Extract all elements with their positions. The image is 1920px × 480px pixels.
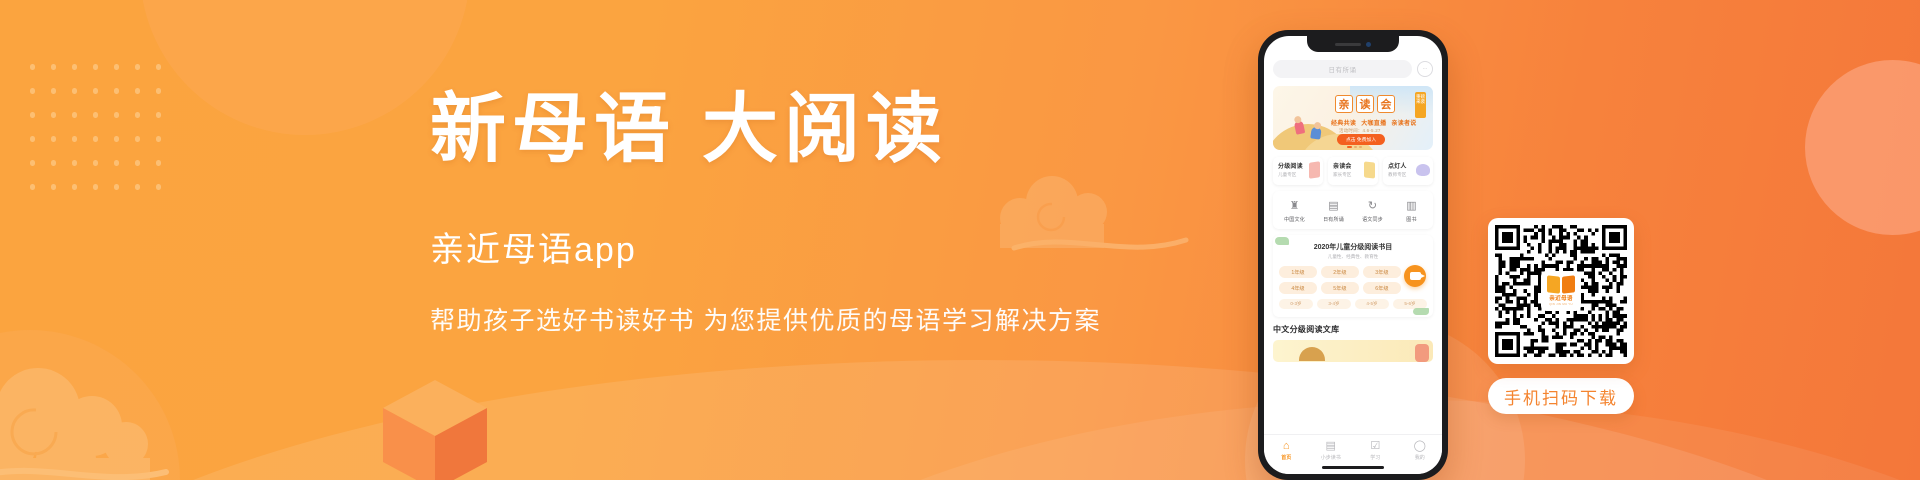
quick-link-syllabus-sync[interactable]: ↻ 语文同步 [1353,198,1392,223]
lamp-icon [1416,164,1430,176]
home-indicator [1322,466,1384,469]
card-graded-reading[interactable]: 分级阅读 儿童专区 [1273,157,1323,185]
culture-icon: ♜ [1287,198,1302,213]
decor-cube [375,370,495,480]
qr-block: 亲近母语 QIN JIN MU YU 手机扫码下载 [1488,218,1634,414]
app-name: 亲近母语app [430,222,1190,271]
illustration-child-1 [1294,120,1306,135]
tab-profile[interactable]: ◯ 我的 [1398,440,1443,461]
quick-link-label: 日有所诵 [1314,216,1353,223]
booklist-subtitle: 儿童性、经典性、教育性 [1279,254,1427,260]
grade-chip[interactable]: 6年级 [1363,282,1401,294]
book-logo-icon [1547,276,1575,293]
card-parent-club[interactable]: 亲读会 家长专区 [1328,157,1378,185]
sync-icon: ↻ [1365,198,1380,213]
grade-chip[interactable]: 3年级 [1363,266,1401,278]
download-button[interactable]: 手机扫码下载 [1488,378,1634,414]
phone-mockup: 日有所诵 ··· 亲 读 会 重磅来袭 经典共读 [1258,30,1448,480]
carousel-dot[interactable] [1359,146,1362,148]
promo-banner: 新母语大阅读 亲近母语app 帮助孩子选好书读好书 为您提供优质的母语学习解决方… [0,0,1920,480]
camera-icon [1366,42,1371,47]
tab-reading[interactable]: ▤ 小步读书 [1309,440,1354,461]
checklist-icon: ☑ [1353,440,1398,453]
hero-title-char: 亲 [1335,95,1353,113]
book-icon [1364,161,1375,178]
home-icon: ⌂ [1264,440,1309,453]
age-chip[interactable]: 0-3岁 [1279,299,1313,309]
hero-title-char: 读 [1356,95,1374,113]
message-icon[interactable]: ··· [1417,61,1433,77]
hero-title: 亲 读 会 [1335,95,1395,113]
grade-chip[interactable]: 1年级 [1279,266,1317,278]
tab-study[interactable]: ☑ 学习 [1353,440,1398,461]
tab-label: 我的 [1398,454,1443,461]
age-chip[interactable]: 3-4岁 [1317,299,1351,309]
decor-auspicious-cloud-left [0,348,210,480]
quick-link-chinese-culture[interactable]: ♜ 中国文化 [1275,198,1314,223]
quick-link-label: 语文同步 [1353,216,1392,223]
hero-ribbon: 重磅来袭 [1415,92,1426,118]
page-title: 新母语大阅读 [430,92,1190,168]
hero-cta-button[interactable]: 点击 免费加入 [1337,134,1385,145]
qr-card: 亲近母语 QIN JIN MU YU [1488,218,1634,364]
video-icon [1410,272,1421,280]
quick-link-label: 图书 [1392,216,1431,223]
recite-icon: ▤ [1326,198,1341,213]
search-row: 日有所诵 ··· [1273,60,1433,78]
app-content: 日有所诵 ··· 亲 读 会 重磅来袭 经典共读 [1264,36,1442,362]
hero-feature: 大咖直播 [1361,118,1386,127]
hero-banner[interactable]: 亲 读 会 重磅来袭 经典共读 大咖直播 亲读者说 活动时间：4.6-5.27 … [1273,86,1433,150]
carousel-dots[interactable] [1347,146,1362,148]
tab-label: 小步读书 [1309,454,1354,461]
qr-code: 亲近母语 QIN JIN MU YU [1495,225,1627,357]
age-chips: 0-3岁 3-4岁 4-5岁 5-6岁 [1279,299,1427,309]
age-chip[interactable]: 4-5岁 [1355,299,1389,309]
library-art [1415,344,1429,362]
hero-feature: 亲读者说 [1391,118,1416,127]
qr-logo-name: 亲近母语 [1549,294,1573,302]
leaf-decor-icon [1413,308,1429,315]
copy-block: 新母语大阅读 亲近母语app 帮助孩子选好书读好书 为您提供优质的母语学习解决方… [430,92,1190,337]
qr-logo: 亲近母语 QIN JIN MU YU [1541,271,1581,311]
leaf-decor-icon [1275,237,1289,245]
speaker-icon [1335,43,1361,46]
decor-circle-bottom-left [0,330,180,480]
booklist-section: 2020年儿童分级阅读书目 儿童性、经典性、教育性 1年级 2年级 3年级 4年… [1273,235,1433,317]
headline-part-1: 新母语 [430,88,676,172]
library-section: 中文分级阅读文库 [1273,324,1433,362]
quick-links: ♜ 中国文化 ▤ 日有所诵 ↻ 语文同步 ▥ 图书 [1273,191,1433,229]
tab-home[interactable]: ⌂ 首页 [1264,440,1309,461]
carousel-dot[interactable] [1347,146,1352,148]
category-cards: 分级阅读 儿童专区 亲读会 家长专区 点灯人 教师专区 [1273,157,1433,185]
hero-title-char: 会 [1377,95,1395,113]
quick-link-daily-recite[interactable]: ▤ 日有所诵 [1314,198,1353,223]
library-card[interactable] [1273,340,1433,362]
phone-notch [1307,36,1399,52]
grade-chip[interactable]: 2年级 [1321,266,1359,278]
decor-circle-top-right [1805,60,1920,235]
quick-link-label: 中国文化 [1275,216,1314,223]
quick-link-books[interactable]: ▥ 图书 [1392,198,1431,223]
search-input[interactable]: 日有所诵 [1273,60,1412,78]
hero-features: 经典共读 大咖直播 亲读者说 [1331,118,1417,127]
decor-circle-top-left [140,0,470,135]
tagline: 帮助孩子选好书读好书 为您提供优质的母语学习解决方案 [430,301,1190,337]
headline-part-2: 大阅读 [702,88,948,172]
qr-logo-pinyin: QIN JIN MU YU [1549,302,1573,306]
phone-screen: 日有所诵 ··· 亲 读 会 重磅来袭 经典共读 [1264,36,1442,474]
user-icon: ◯ [1398,440,1443,453]
tab-label: 首页 [1264,454,1309,461]
decor-dot-grid [22,55,164,200]
hero-feature: 经典共读 [1331,118,1356,127]
grade-chip[interactable]: 4年级 [1279,282,1317,294]
books-icon: ▥ [1404,198,1419,213]
booklist-title: 2020年儿童分级阅读书目 [1279,242,1427,252]
book-list-icon: ▤ [1309,440,1354,453]
card-teacher-zone[interactable]: 点灯人 教师专区 [1383,157,1433,185]
illustration-child-2 [1310,126,1322,139]
video-play-button[interactable] [1404,265,1426,287]
book-icon [1309,161,1320,179]
tab-label: 学习 [1353,454,1398,461]
library-art [1299,347,1325,361]
grade-chip[interactable]: 5年级 [1321,282,1359,294]
library-title: 中文分级阅读文库 [1273,324,1433,335]
carousel-dot[interactable] [1354,146,1357,148]
